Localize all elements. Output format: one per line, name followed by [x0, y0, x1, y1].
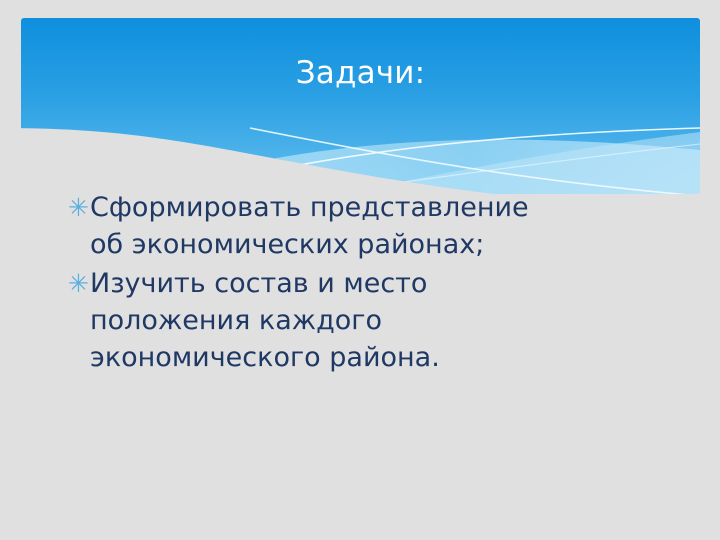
banner-wave-band [120, 140, 700, 196]
list-item: ✳ Сформировать представление об экономич… [68, 189, 668, 263]
banner-wave-line-2 [250, 128, 700, 196]
page-title: Задачи: [296, 56, 426, 90]
banner-wave-band-2 [330, 132, 700, 196]
banner-blue-panel [21, 18, 700, 200]
list-item-text: Сформировать представление об экономичес… [90, 189, 545, 263]
bullet-list: ✳ Сформировать представление об экономич… [68, 189, 668, 378]
list-item-text: Изучить состав и место положения каждого… [90, 265, 545, 376]
list-item: ✳ Изучить состав и место положения каждо… [68, 265, 668, 376]
slide-canvas: Задачи: ✳ Сформировать представление об … [0, 0, 720, 540]
title-area: Задачи: [21, 18, 700, 128]
asterisk-bullet-icon: ✳ [68, 265, 90, 302]
banner-left-margin-fill [0, 124, 21, 196]
asterisk-bullet-icon: ✳ [68, 189, 90, 226]
